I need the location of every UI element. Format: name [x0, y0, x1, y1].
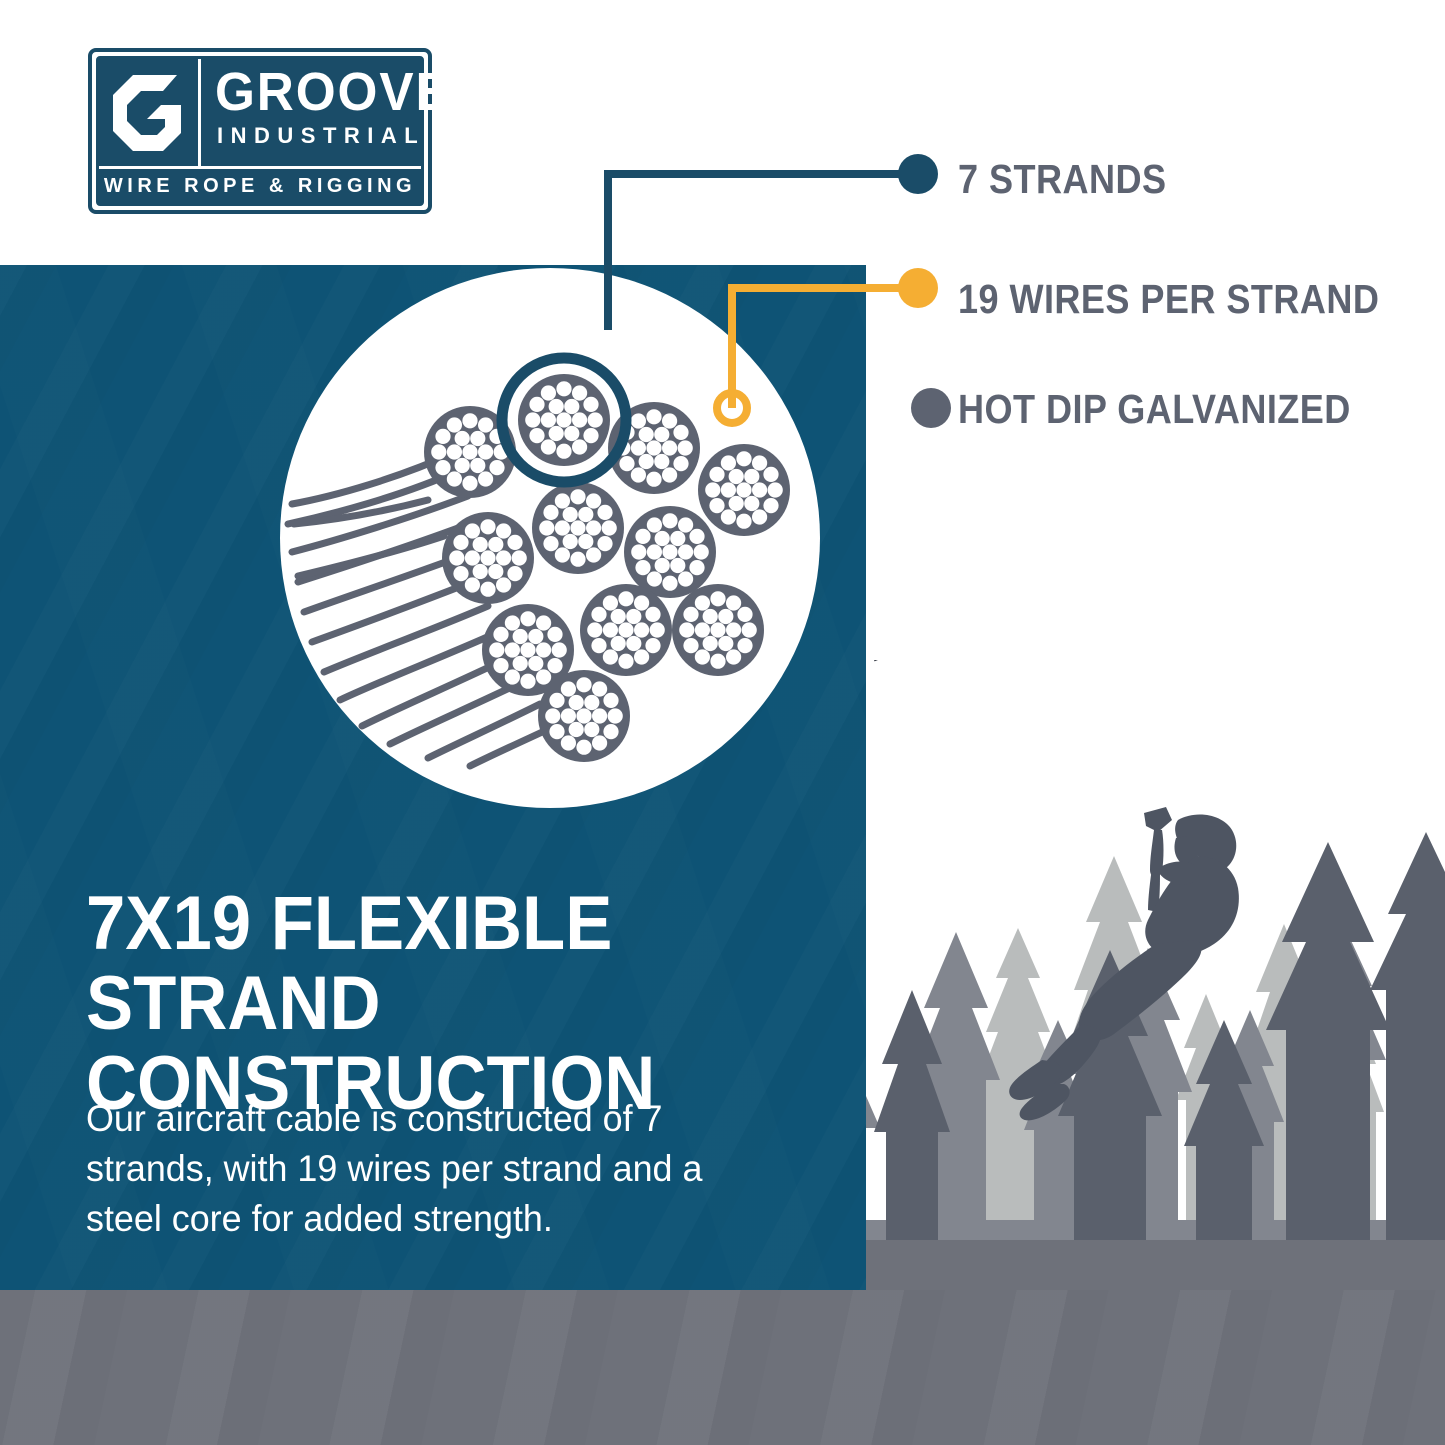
callout-strands: 7 STRANDS [958, 152, 1195, 206]
logo-subtitle: INDUSTRIAL [217, 125, 425, 147]
connector-line-strands [608, 174, 910, 330]
headline-line-1: 7X19 FLEXIBLE [86, 881, 612, 966]
infographic-page: GROOVE INDUSTRIAL WIRE ROPE & RIGGING [0, 0, 1445, 1445]
callout-label-wires-per-strand: 19 WIRES PER STRAND [958, 276, 1379, 323]
logo-tagline-bar: WIRE ROPE & RIGGING [99, 169, 421, 203]
zipline-rider-forest-silhouette [866, 660, 1445, 1290]
logo-inner-panel: GROOVE INDUSTRIAL WIRE ROPE & RIGGING [96, 56, 424, 206]
logo-tagline: WIRE ROPE & RIGGING [104, 175, 416, 198]
photo-base-strip [866, 1240, 1445, 1292]
logo-name: GROOVE [215, 65, 452, 119]
page-title: 7X19 FLEXIBLE STRAND CONSTRUCTION [86, 884, 774, 1124]
footer-stripe-texture [0, 1290, 1445, 1445]
callout-dot-strands [898, 154, 938, 194]
logo-top-row: GROOVE INDUSTRIAL [99, 59, 421, 166]
footer-band [0, 1290, 1445, 1445]
body-copy: Our aircraft cable is constructed of 7 s… [86, 1094, 731, 1244]
connector-line-wires [732, 288, 910, 408]
callout-wires-per-strand: 19 WIRES PER STRAND [958, 272, 1437, 326]
callout-galvanized: HOT DIP GALVANIZED [958, 382, 1404, 436]
logo-wordmark: GROOVE INDUSTRIAL [201, 59, 421, 166]
groove-g-icon [99, 59, 201, 166]
callout-label-strands: 7 STRANDS [958, 156, 1166, 203]
brand-logo: GROOVE INDUSTRIAL WIRE ROPE & RIGGING [88, 48, 432, 214]
callout-dot-galvanized [911, 388, 951, 428]
callout-label-galvanized: HOT DIP GALVANIZED [958, 386, 1351, 433]
callout-dot-wires [898, 268, 938, 308]
